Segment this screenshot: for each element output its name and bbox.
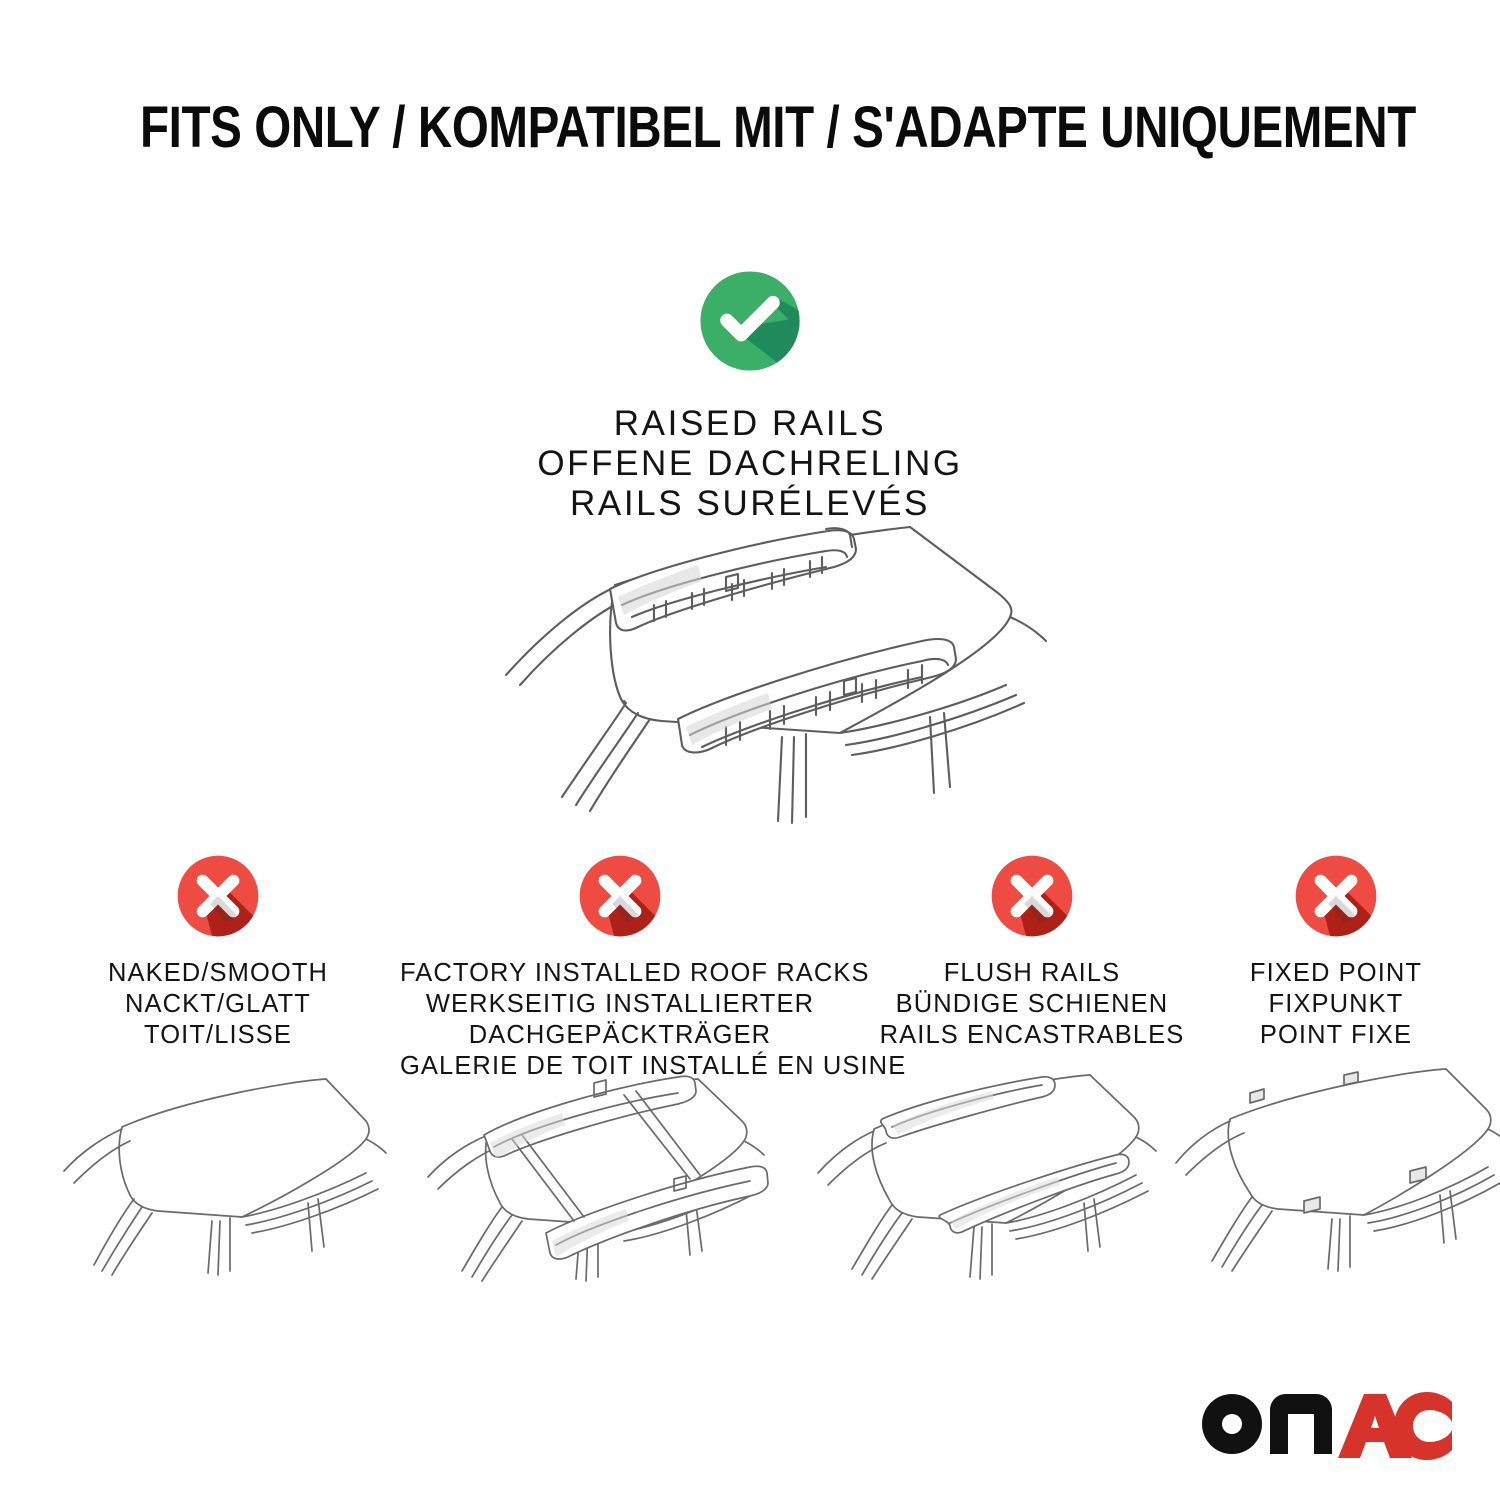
check-circle-icon xyxy=(691,262,809,380)
page-title: FITS ONLY / KOMPATIBEL MIT / S'ADAPTE UN… xyxy=(140,96,1416,160)
car-roof-fixed-point-illustration xyxy=(1168,1055,1500,1305)
incompatible-item-factory-racks: FACTORY INSTALLED ROOF RACKS WERKSEITIG … xyxy=(400,848,840,1082)
label-line-1: FACTORY INSTALLED ROOF RACKS xyxy=(400,958,840,989)
car-roof-factory-racks-illustration xyxy=(398,1055,798,1305)
label-line-3: RAILS ENCASTRABLES xyxy=(862,1020,1202,1051)
label-line-2: NACKT/GLATT xyxy=(58,989,378,1020)
label-line-1: FIXED POINT xyxy=(1196,958,1476,989)
omac-logo xyxy=(1196,1388,1456,1464)
incompatible-illustrations xyxy=(0,1055,1500,1305)
label-line-2: BÜNDIGE SCHIENEN xyxy=(862,989,1202,1020)
incompatible-item-naked: NAKED/SMOOTH NACKT/GLATT TOIT/LISSE xyxy=(58,848,378,1051)
incompatible-caption-naked: NAKED/SMOOTH NACKT/GLATT TOIT/LISSE xyxy=(58,958,378,1051)
incompatible-row: NAKED/SMOOTH NACKT/GLATT TOIT/LISSE xyxy=(0,848,1500,1068)
incompatible-caption-flush-rails: FLUSH RAILS BÜNDIGE SCHIENEN RAILS ENCAS… xyxy=(862,958,1202,1051)
label-line-1: FLUSH RAILS xyxy=(862,958,1202,989)
incompatible-caption-fixed-point: FIXED POINT FIXPUNKT POINT FIXE xyxy=(1196,958,1476,1051)
compatible-section: RAISED RAILS OFFENE DACHRELING RAILS SUR… xyxy=(0,262,1500,524)
cross-circle-icon xyxy=(1288,848,1384,944)
label-line-2: WERKSEITIG INSTALLIERTER xyxy=(400,989,840,1020)
label-line-3: DACHGEPÄCKTRÄGER xyxy=(400,1020,840,1051)
cross-circle-icon xyxy=(572,848,668,944)
label-line-1: NAKED/SMOOTH xyxy=(58,958,378,989)
label-line-3: TOIT/LISSE xyxy=(58,1020,378,1051)
compatible-label-de: OFFENE DACHRELING xyxy=(0,444,1500,484)
cross-circle-icon xyxy=(170,848,266,944)
page-title-bar: FITS ONLY / KOMPATIBEL MIT / S'ADAPTE UN… xyxy=(0,96,1500,160)
label-line-2: FIXPUNKT xyxy=(1196,989,1476,1020)
car-roof-raised-rails-illustration xyxy=(410,505,1090,835)
compatible-label-en: RAISED RAILS xyxy=(0,404,1500,444)
cross-circle-icon xyxy=(984,848,1080,944)
incompatible-item-fixed-point: FIXED POINT FIXPUNKT POINT FIXE xyxy=(1196,848,1476,1051)
car-roof-naked-illustration xyxy=(46,1055,396,1305)
car-roof-flush-rails-illustration xyxy=(808,1055,1188,1305)
label-line-3: POINT FIXE xyxy=(1196,1020,1476,1051)
incompatible-item-flush-rails: FLUSH RAILS BÜNDIGE SCHIENEN RAILS ENCAS… xyxy=(862,848,1202,1051)
